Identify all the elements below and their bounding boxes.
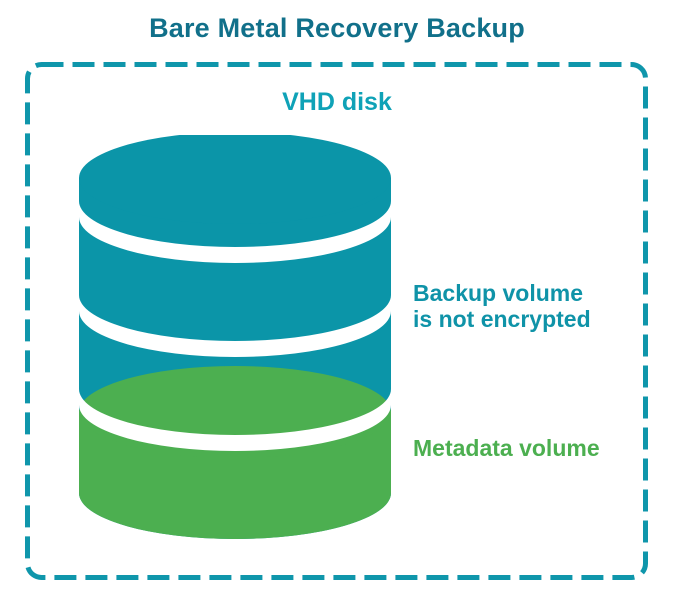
backup-volume-label: Backup volume is not encrypted: [413, 281, 658, 333]
metadata-volume-label: Metadata volume: [413, 436, 658, 462]
backup-volume-label-line2: is not encrypted: [413, 307, 658, 333]
metadata-volume-segment: [70, 366, 400, 545]
cylinder-shape: [70, 135, 400, 545]
cylinder-body: [70, 135, 400, 545]
diagram-canvas: Bare Metal Recovery Backup VHD disk: [0, 0, 674, 605]
cylinder-top-cap: [79, 135, 391, 224]
page-title: Bare Metal Recovery Backup: [0, 13, 674, 44]
vhd-disk-label: VHD disk: [0, 88, 674, 117]
metadata-volume-label-line1: Metadata volume: [413, 436, 658, 462]
backup-volume-label-line1: Backup volume: [413, 281, 658, 307]
vhd-disk-cylinder: [70, 135, 400, 545]
